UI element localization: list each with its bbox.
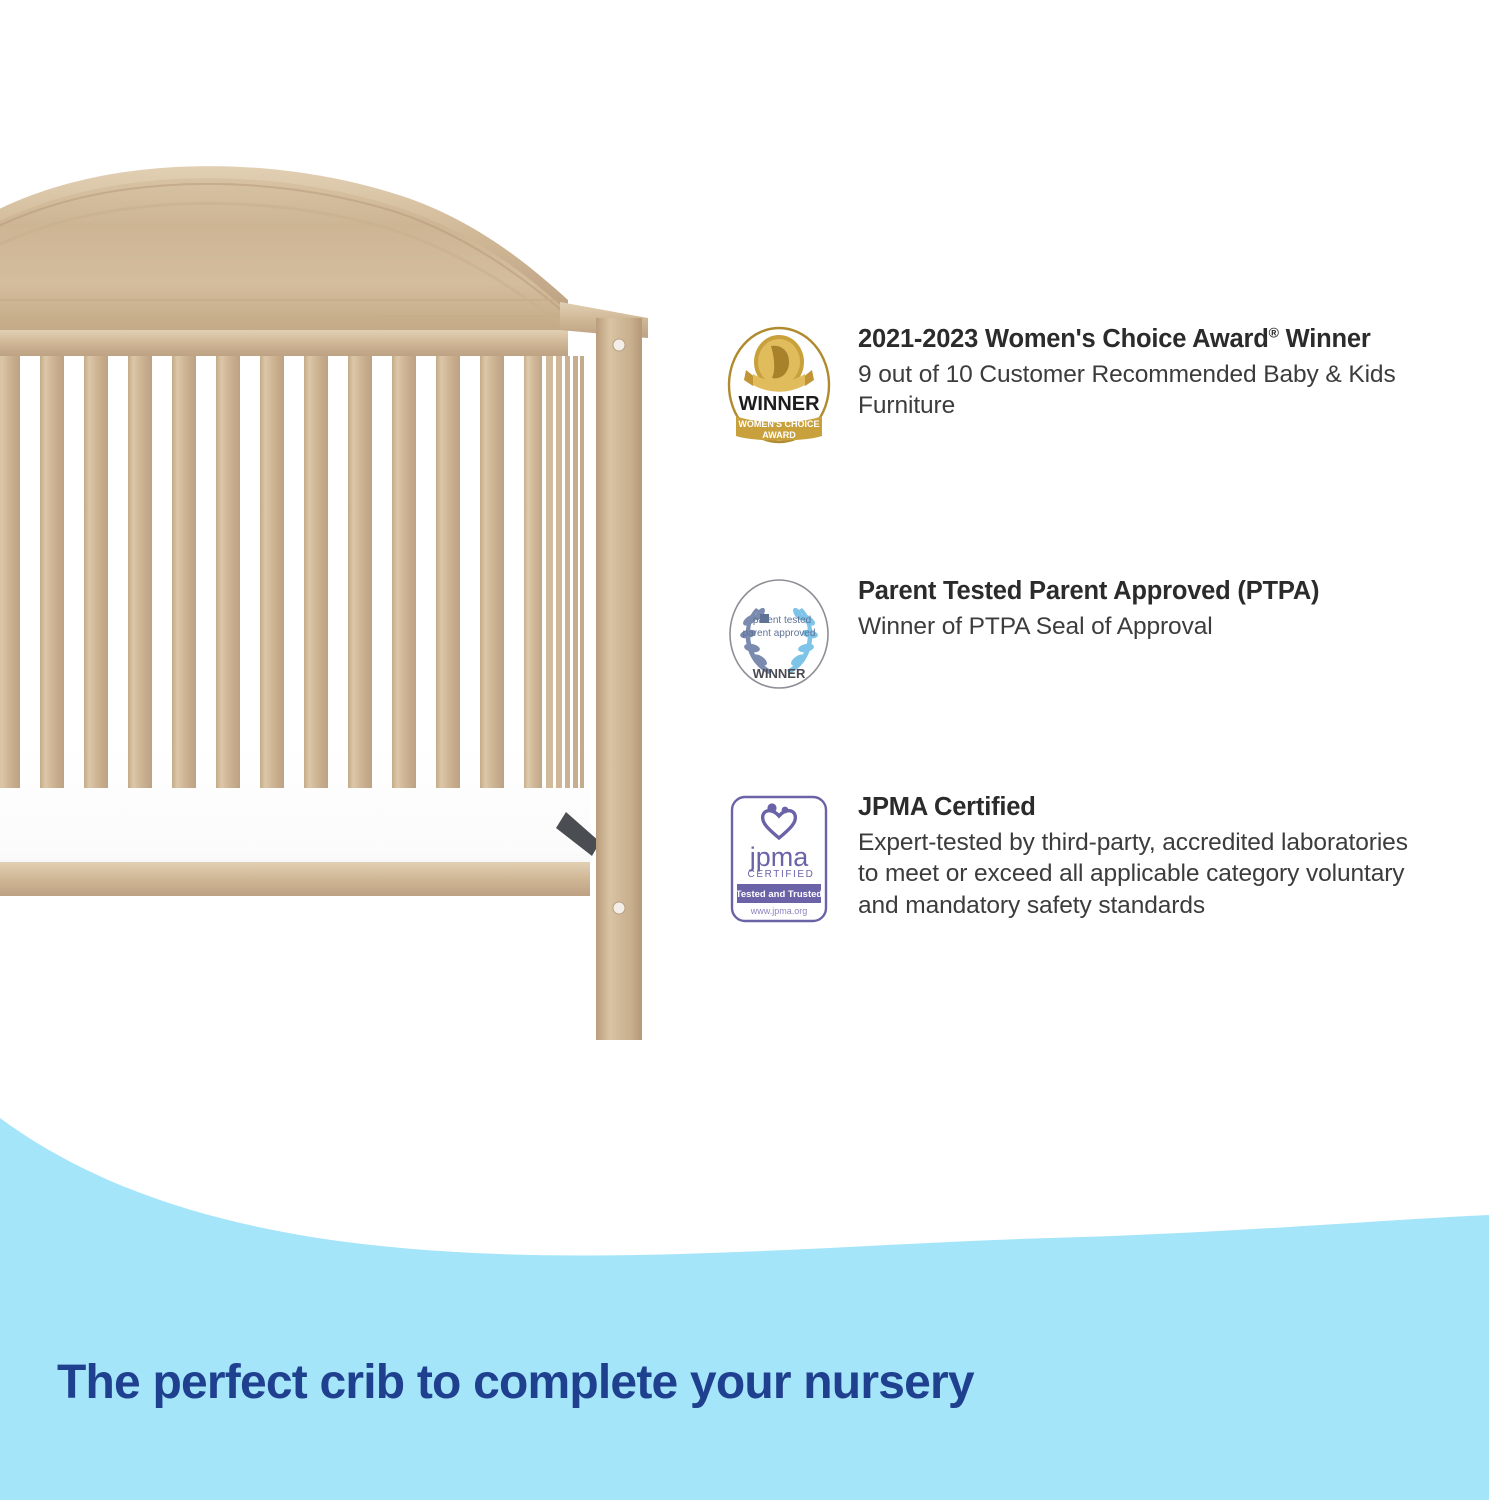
ptpa-seal-badge: parent tested parent approved WINNER xyxy=(726,578,832,690)
feature-description: Winner of PTPA Seal of Approval xyxy=(858,611,1420,642)
crib-top-rail xyxy=(0,330,568,356)
feature-title: JPMA Certified xyxy=(858,792,1420,822)
badge-cell: jpma CERTIFIED Tested and Trusted www.jp… xyxy=(700,790,858,924)
badge-winner-label: WINNER xyxy=(738,393,820,415)
feature-text: Parent Tested Parent Approved (PTPA) Win… xyxy=(858,574,1420,642)
feature-title-suffix: Winner xyxy=(1279,325,1371,353)
feature-text: JPMA Certified Expert-tested by third-pa… xyxy=(858,790,1420,921)
feature-ptpa: parent tested parent approved WINNER Par… xyxy=(700,574,1420,690)
feature-description: 9 out of 10 Customer Recommended Baby & … xyxy=(858,359,1420,422)
feature-womens-choice: WINNER WOMEN'S CHOICE AWARD 2021-2023 Wo… xyxy=(700,322,1420,444)
ptpa-line2: parent approved xyxy=(743,628,816,639)
product-image xyxy=(0,0,700,1100)
jpma-brand: jpma xyxy=(749,842,810,872)
womens-choice-award-badge: WINNER WOMEN'S CHOICE AWARD xyxy=(726,326,832,444)
feature-title: Parent Tested Parent Approved (PTPA) xyxy=(858,576,1420,606)
jpma-certified-badge: jpma CERTIFIED Tested and Trusted www.jp… xyxy=(729,794,829,924)
feature-title-prefix: JPMA Certified xyxy=(858,793,1036,821)
crib-bottom-rail xyxy=(0,862,590,896)
badge-cell: WINNER WOMEN'S CHOICE AWARD xyxy=(700,322,858,444)
feature-title-prefix: 2021-2023 Women's Choice Award xyxy=(858,325,1269,353)
badge-cell: parent tested parent approved WINNER xyxy=(700,574,858,690)
crib-illustration xyxy=(0,0,700,1100)
jpma-certified-label: CERTIFIED xyxy=(748,869,815,880)
crib-headboard xyxy=(0,166,568,332)
feature-description: Expert-tested by third-party, accredited… xyxy=(858,827,1420,921)
product-infographic: WINNER WOMEN'S CHOICE AWARD 2021-2023 Wo… xyxy=(0,0,1489,1500)
ptpa-winner-label: WINNER xyxy=(753,666,806,681)
registered-mark: ® xyxy=(1269,325,1279,341)
jpma-tested-label: Tested and Trusted xyxy=(736,889,823,900)
ptpa-line1: parent tested xyxy=(753,615,811,626)
feature-jpma: jpma CERTIFIED Tested and Trusted www.jp… xyxy=(700,790,1420,924)
badge-ribbon-line1: WOMEN'S CHOICE xyxy=(738,419,819,429)
feature-title-prefix: Parent Tested Parent Approved (PTPA) xyxy=(858,577,1319,605)
feature-text: 2021-2023 Women's Choice Award® Winner 9… xyxy=(858,322,1420,422)
crib-slats xyxy=(0,356,584,788)
banner-headline: The perfect crib to complete your nurser… xyxy=(57,1355,974,1410)
bottom-banner: The perfect crib to complete your nurser… xyxy=(0,1100,1489,1500)
badge-ribbon-line2: AWARD xyxy=(762,430,796,440)
banner-curve-shape xyxy=(0,1100,1489,1500)
jpma-url: www.jpma.org xyxy=(750,906,808,916)
feature-title: 2021-2023 Women's Choice Award® Winner xyxy=(858,324,1420,354)
